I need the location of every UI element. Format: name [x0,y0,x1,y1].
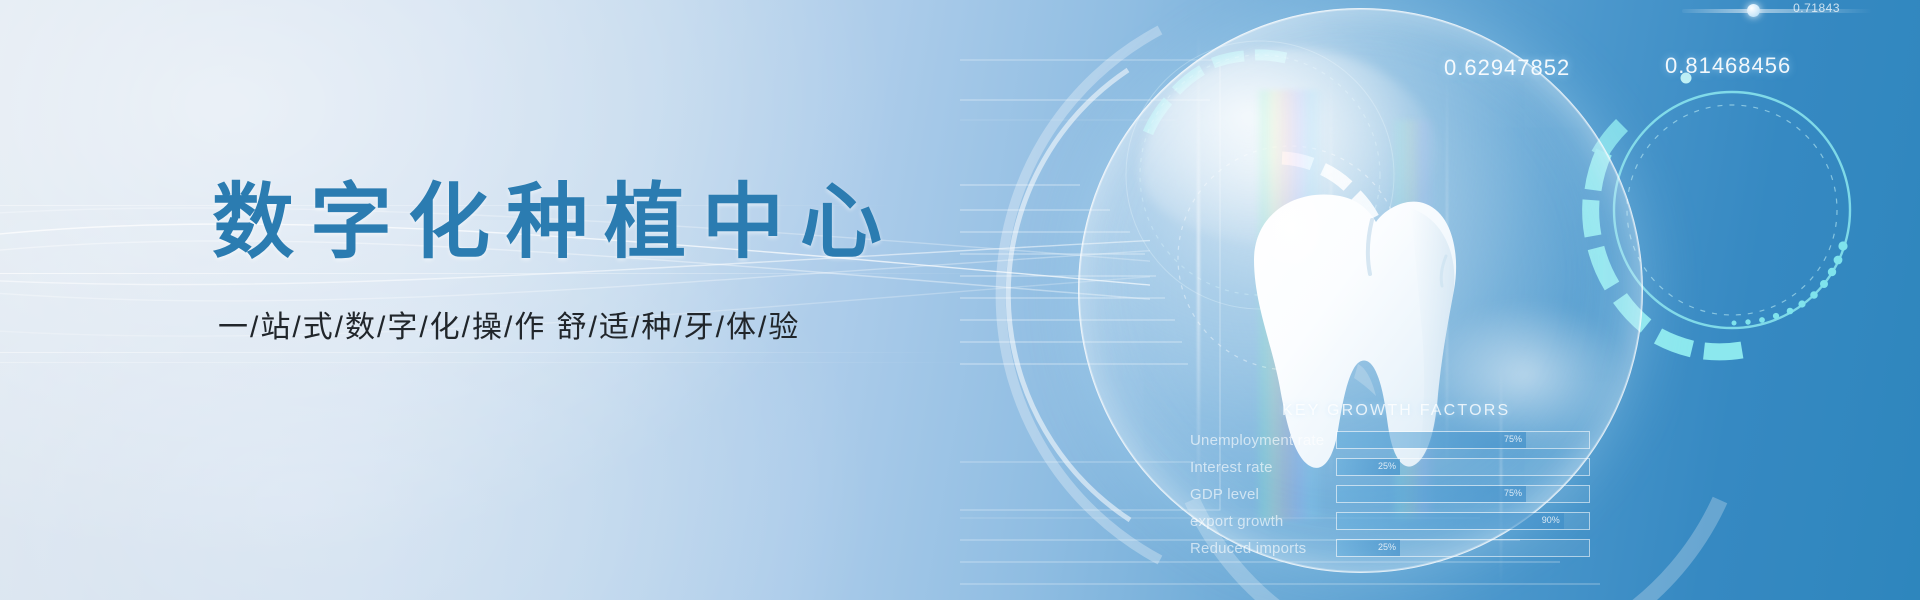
key-growth-factor-bar: 25% [1336,539,1590,557]
key-growth-factor-row: Unemployment rate75% [1190,429,1590,451]
key-growth-factor-percent: 25% [1378,461,1400,471]
key-growth-factors-panel: KEY GROWTH FACTORS Unemployment rate75%I… [1190,402,1590,564]
key-growth-factor-label: export growth [1190,513,1336,530]
key-growth-factor-bar: 25% [1336,458,1590,476]
page-title: 数字化种植中心 [212,180,898,266]
key-growth-factors-title: KEY GROWTH FACTORS [1282,402,1590,420]
key-growth-factor-row: export growth90% [1190,510,1590,532]
key-growth-factor-bar-fill [1337,432,1526,448]
key-growth-factor-row: Interest rate25% [1190,456,1590,478]
key-growth-factor-bar: 75% [1336,431,1590,449]
glass-sphere-lower-highlight [1420,300,1630,450]
key-growth-factor-bar: 90% [1336,512,1590,530]
hud-readout-left: 0.62947852 [1444,55,1570,81]
vertical-light-streak-2 [1330,60,1332,490]
banner-text-block: 数字化种植中心 一/站/式/数/字/化/操/作 舒/适/种/牙/体/验 [212,180,898,346]
vertical-light-streak-3 [1446,70,1448,470]
hud-line-graphics [960,0,1920,600]
vertical-light-streak-1 [1197,30,1200,500]
key-growth-factor-bar-fill [1337,486,1526,502]
glass-sphere-highlight [1140,48,1440,248]
key-growth-factor-label: Unemployment rate [1190,432,1336,449]
vertical-light-streak-4 [1500,360,1502,590]
key-growth-factor-percent: 75% [1504,488,1526,498]
glass-sphere-rim [1078,8,1643,573]
key-growth-factor-percent: 25% [1378,542,1400,552]
key-growth-factor-percent: 90% [1542,515,1564,525]
tooth-icon [1210,182,1470,482]
key-growth-factor-bar-fill [1337,459,1400,475]
top-slider-knob[interactable] [1747,4,1760,17]
tech-hud-zone [960,0,1920,600]
key-growth-factor-row: Reduced imports25% [1190,537,1590,559]
key-growth-factor-percent: 75% [1504,434,1526,444]
glass-sphere [1078,8,1643,573]
key-growth-factor-bar: 75% [1336,485,1590,503]
key-growth-factor-row: GDP level75% [1190,483,1590,505]
top-slider-track[interactable] [1682,9,1872,13]
key-growth-factor-label: Reduced imports [1190,540,1336,557]
prism-streak-1 [1255,90,1325,520]
key-growth-factors-rows: Unemployment rate75%Interest rate25%GDP … [1190,429,1590,559]
key-growth-factor-bar-fill [1337,513,1564,529]
banner-root: 数字化种植中心 一/站/式/数/字/化/操/作 舒/适/种/牙/体/验 [0,0,1920,600]
rule-line-4 [0,362,1000,363]
page-subtitle: 一/站/式/数/字/化/操/作 舒/适/种/牙/体/验 [218,302,898,346]
key-growth-factor-label: GDP level [1190,486,1336,503]
top-slider-value: 0.71843 [1793,1,1840,15]
key-growth-factor-label: Interest rate [1190,459,1336,476]
hud-readout-right: 0.81468456 [1665,53,1791,79]
rule-line-3 [0,352,960,353]
key-growth-factor-bar-fill [1337,540,1400,556]
prism-streak-2 [1390,120,1436,520]
